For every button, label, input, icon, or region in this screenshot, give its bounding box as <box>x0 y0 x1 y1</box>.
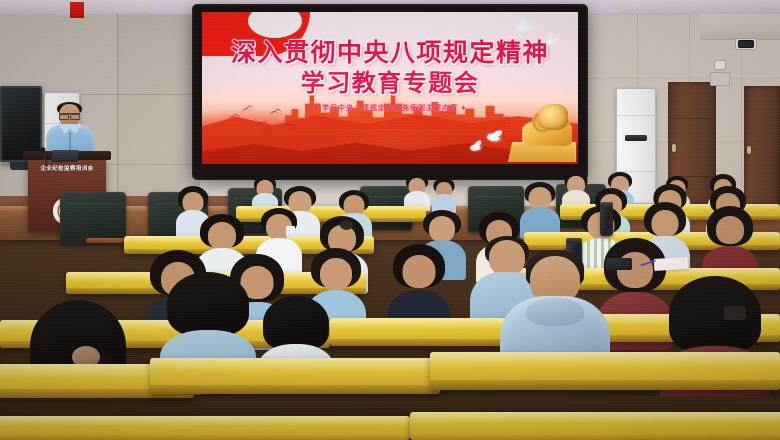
audience-member <box>562 172 590 208</box>
hair <box>263 296 329 350</box>
right-soffit <box>700 14 780 40</box>
hair-clip <box>340 220 353 230</box>
head <box>403 255 436 288</box>
hair <box>167 272 249 336</box>
audience-member <box>432 178 456 210</box>
flying-bird-icon <box>262 130 270 136</box>
led-title-line1: 深入贯彻中央八项规定精神 <box>202 38 578 69</box>
head <box>716 216 744 244</box>
student-desk-foreground[interactable] <box>150 358 440 394</box>
subtitle-star-right: ✦ <box>461 106 467 112</box>
student-desk-foreground[interactable] <box>0 416 410 440</box>
chair-arm <box>86 238 124 243</box>
meeting-room-photograph: 深入贯彻中央八项规定精神 学习教育专题会 ✦学习中央八项规定及实施细则主要内容✦… <box>0 0 780 440</box>
leather-chair[interactable] <box>60 192 126 244</box>
head <box>429 216 455 242</box>
wall-panel-screen <box>738 40 754 48</box>
led-display: 深入贯彻中央八项规定精神 学习教育专题会 ✦学习中央八项规定及实施细则主要内容✦ <box>202 12 578 164</box>
hair <box>669 276 761 352</box>
head <box>320 258 352 290</box>
student-desk-foreground[interactable] <box>430 352 780 390</box>
glasses-icon <box>59 113 80 117</box>
student-desk-foreground[interactable] <box>410 412 780 440</box>
led-subtitle: 学习中央八项规定及实施细则主要内容 <box>322 105 458 112</box>
hair-clip <box>724 306 746 320</box>
notepaper[interactable] <box>654 257 689 271</box>
white-dove-icon <box>515 20 533 33</box>
led-subtitle-row: ✦学习中央八项规定及实施细则主要内容✦ <box>202 103 578 113</box>
audience-member <box>252 176 278 210</box>
paper-cup[interactable] <box>286 226 295 238</box>
thermos-flask[interactable] <box>600 206 613 236</box>
subtitle-star-left: ✦ <box>313 106 319 112</box>
audience-member <box>520 182 560 236</box>
audience-member <box>404 174 430 208</box>
speaker-box <box>710 72 730 86</box>
red-flag-accent <box>70 2 84 18</box>
jacket-hood <box>526 298 584 326</box>
led-title-block: 深入贯彻中央八项规定精神 学习教育专题会 <box>202 38 578 98</box>
led-title-line2: 学习教育专题会 <box>202 69 578 98</box>
head <box>208 222 236 250</box>
laptop <box>51 150 78 162</box>
flying-bird-icon <box>256 122 264 128</box>
foreground-audience-member <box>160 272 256 372</box>
wall-sensor <box>714 60 726 70</box>
podium-banner-text: 企业纪检监察培训会 <box>30 162 104 174</box>
head <box>652 210 679 237</box>
